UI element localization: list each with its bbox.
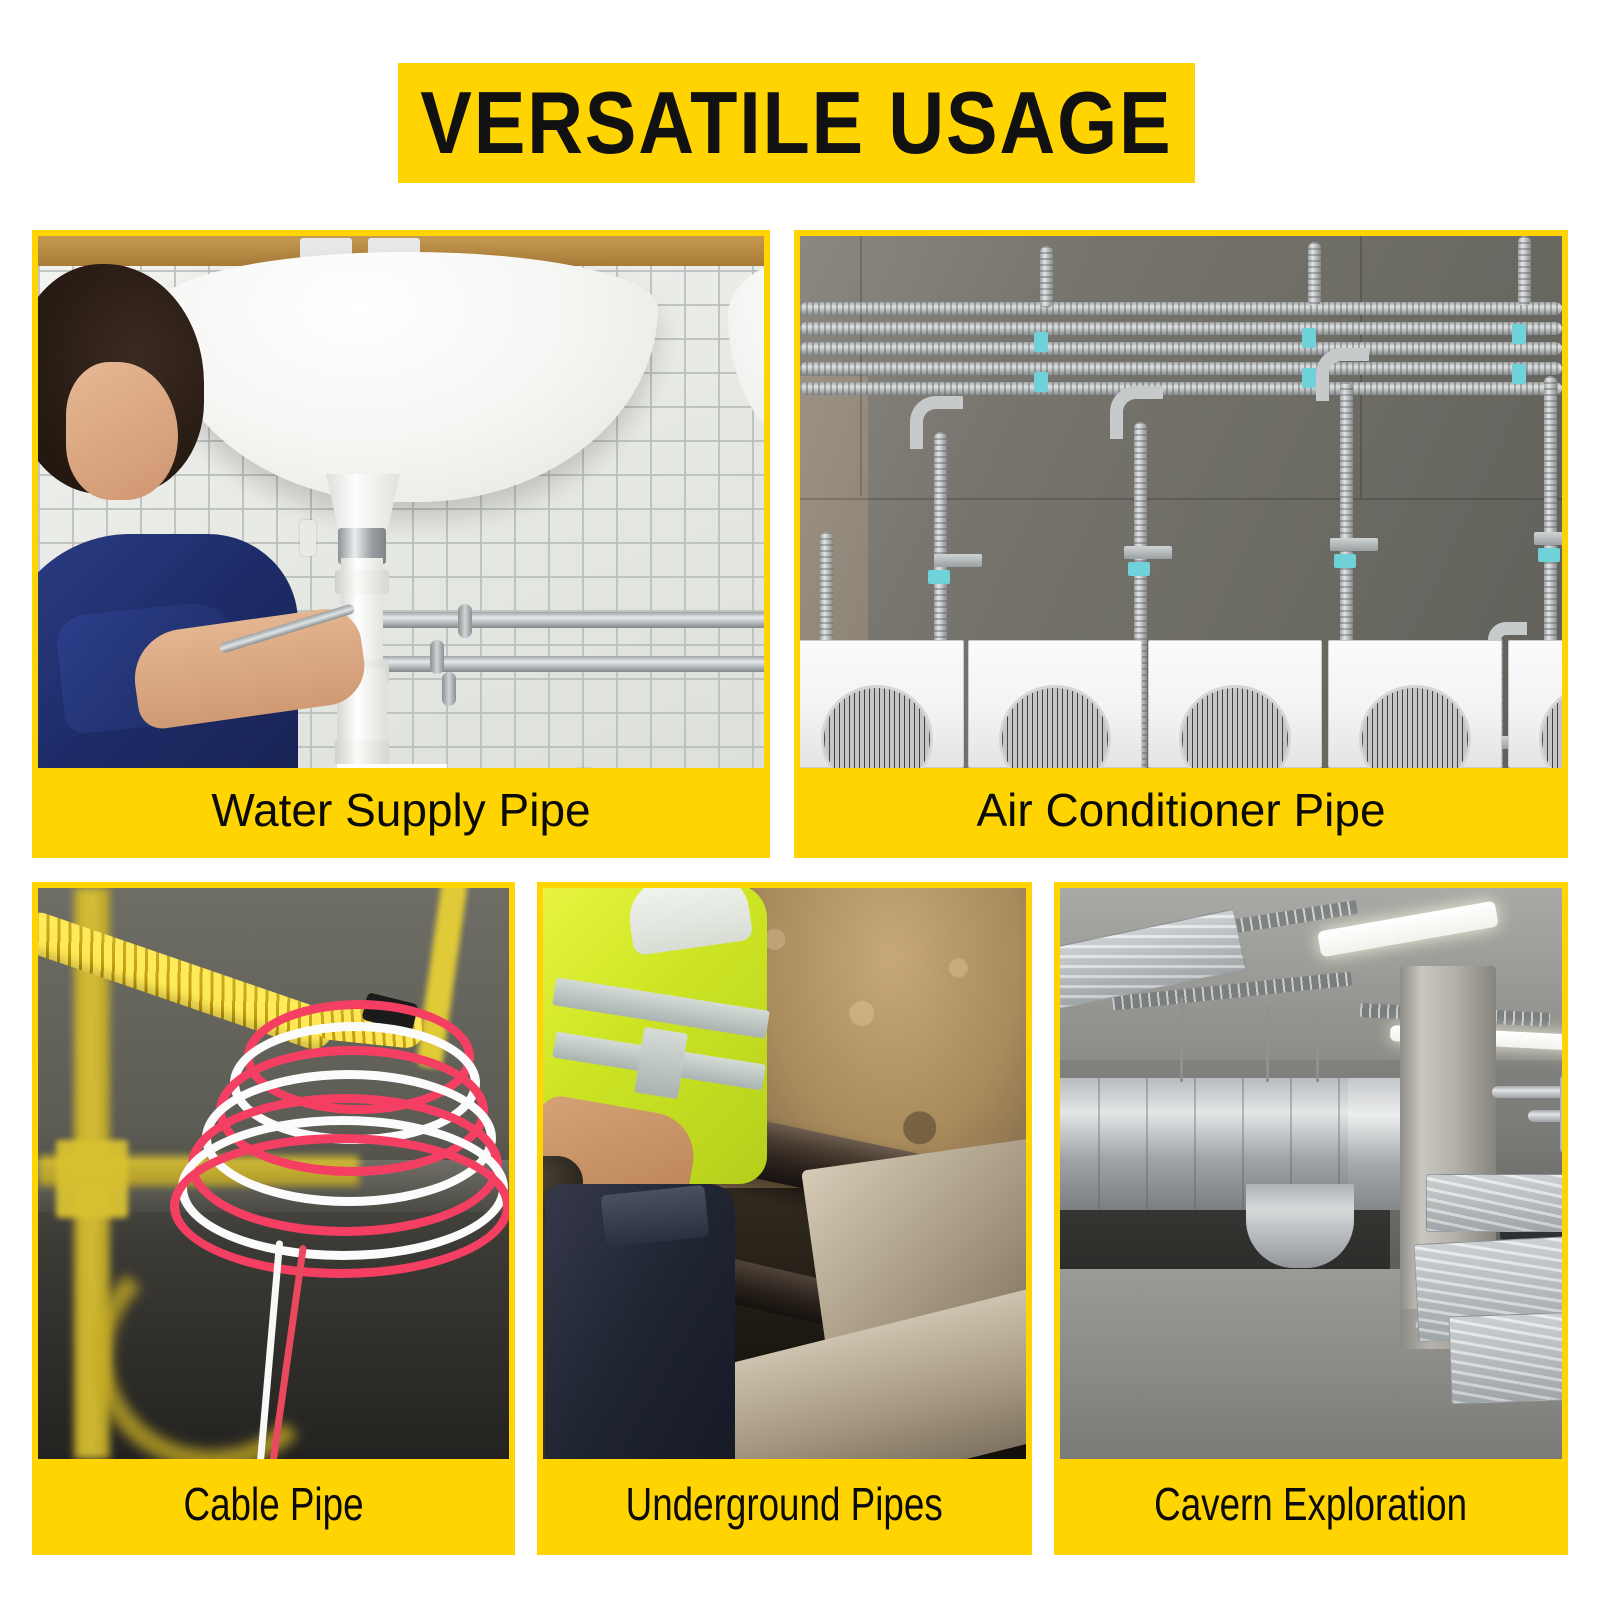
caption-bar-air-conditioner-pipe: Air Conditioner Pipe	[800, 768, 1562, 852]
conduit-strap	[1128, 562, 1150, 576]
conduit-strap	[1512, 364, 1526, 384]
caption-label: Cavern Exploration	[1155, 1481, 1468, 1527]
usage-card-water-supply-pipe: Water Supply Pipe	[32, 230, 770, 858]
trap-collar	[335, 570, 389, 594]
caption-bar-cable-pipe: Cable Pipe	[38, 1459, 509, 1549]
conduit-strap	[1034, 372, 1048, 392]
conduit-strap	[1512, 324, 1526, 344]
conduit-strap	[1034, 332, 1048, 352]
conduit-horizontal	[800, 382, 1562, 395]
insulated-duct	[1449, 1312, 1562, 1405]
service-pipe	[1492, 1086, 1562, 1098]
conduit-strap	[1334, 554, 1356, 568]
conduit-strap	[1302, 328, 1316, 348]
ac-fan-grille	[1539, 685, 1562, 768]
caption-label: Underground Pipes	[626, 1481, 943, 1527]
ac-fan-grille	[999, 685, 1111, 768]
conduit-strap	[1302, 368, 1316, 388]
wall-bracket	[1534, 532, 1562, 545]
conduit-stub	[1308, 242, 1321, 306]
duct-hanger-rod	[1316, 1012, 1319, 1082]
trap-elbow	[337, 764, 447, 768]
ac-condenser-unit	[800, 640, 964, 768]
ac-condenser-unit	[968, 640, 1142, 768]
conduit-strap	[928, 570, 950, 584]
wall-bracket	[1330, 538, 1378, 551]
usage-card-underground-pipes: Underground Pipes	[537, 882, 1032, 1555]
photo-underground-pipes	[543, 888, 1026, 1459]
conduit-horizontal	[800, 302, 1562, 315]
photo-water-supply-pipe	[38, 236, 764, 768]
caption-label: Water Supply Pipe	[211, 787, 590, 833]
usage-card-grid: Water Supply Pipe	[32, 230, 1568, 1555]
usage-card-air-conditioner-pipe: Air Conditioner Pipe	[794, 230, 1568, 858]
caption-label: Cable Pipe	[183, 1481, 363, 1527]
title-banner: VERSATILE USAGE	[398, 63, 1195, 183]
photo-cable-pipe	[38, 888, 509, 1459]
pipe-bracket	[430, 640, 444, 674]
usage-card-cavern-exploration: Cavern Exploration	[1054, 882, 1568, 1555]
caption-bar-underground-pipes: Underground Pipes	[543, 1459, 1026, 1549]
duct-hanger-rod	[1180, 998, 1183, 1082]
insulated-duct	[1426, 1174, 1562, 1232]
page-title: VERSATILE USAGE	[420, 79, 1172, 167]
conduit-bend	[1110, 386, 1163, 439]
service-pipe-riser	[1560, 1074, 1562, 1154]
caption-bar-cavern-exploration: Cavern Exploration	[1060, 1459, 1562, 1549]
conduit-horizontal	[800, 342, 1562, 355]
trouser-pocket	[601, 1185, 710, 1248]
background-yellow-fitting	[56, 1140, 128, 1218]
conduit-strap	[1538, 548, 1560, 562]
ac-condenser-unit	[1148, 640, 1322, 768]
wall-bracket	[1124, 546, 1172, 559]
trap-collar	[335, 740, 389, 764]
pipe-bracket	[442, 672, 456, 706]
photo-cavern-exploration	[1060, 888, 1562, 1459]
duct-hanger-rod	[1266, 1006, 1269, 1082]
caption-bar-water-supply-pipe: Water Supply Pipe	[38, 768, 764, 852]
conduit-stub	[1518, 236, 1531, 306]
steel-supply-pipe	[338, 612, 764, 628]
conduit-bend	[1316, 348, 1369, 401]
red-wire-coil	[170, 1134, 509, 1278]
ac-condenser-unit	[1328, 640, 1502, 768]
caption-label: Air Conditioner Pipe	[976, 787, 1385, 833]
conduit-horizontal	[800, 362, 1562, 375]
ac-fan-grille	[1179, 685, 1291, 768]
service-pipe	[1528, 1110, 1562, 1122]
duct-elbow-down	[1246, 1184, 1354, 1268]
conduit-bend	[910, 396, 963, 449]
wall-bracket	[934, 554, 982, 567]
usage-card-cable-pipe: Cable Pipe	[32, 882, 515, 1555]
ac-fan-grille	[1359, 685, 1471, 768]
conduit-stub	[1040, 246, 1053, 308]
wall-clip	[300, 520, 316, 556]
pipe-bracket	[458, 604, 472, 638]
steel-supply-pipe	[338, 656, 764, 672]
photo-air-conditioner-pipe	[800, 236, 1562, 768]
conduit-horizontal	[800, 322, 1562, 335]
ac-condenser-unit	[1508, 640, 1562, 768]
ac-fan-grille	[821, 685, 933, 768]
wall-seam	[800, 498, 1562, 500]
